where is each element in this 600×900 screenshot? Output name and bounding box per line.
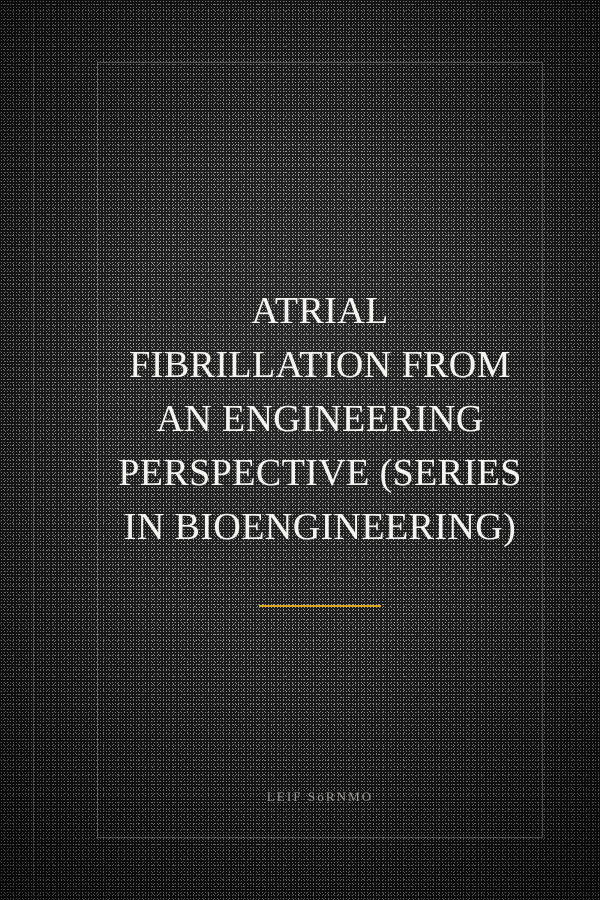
title-line: IN BIOENGINEERING) (87, 500, 553, 554)
title-line: FIBRILLATION FROM (87, 338, 553, 392)
title-line: PERSPECTIVE (SERIES (87, 446, 553, 500)
book-cover: ATRIAL FIBRILLATION FROM AN ENGINEERING … (0, 0, 600, 900)
title-line: AN ENGINEERING (87, 392, 553, 446)
book-title: ATRIAL FIBRILLATION FROM AN ENGINEERING … (87, 284, 553, 554)
gold-divider-rule (259, 605, 381, 607)
spine-fold-line (33, 0, 34, 900)
cover-content: ATRIAL FIBRILLATION FROM AN ENGINEERING … (97, 62, 543, 838)
author-name: LEIF SöRNMO (97, 789, 543, 805)
title-line: ATRIAL (87, 284, 553, 338)
